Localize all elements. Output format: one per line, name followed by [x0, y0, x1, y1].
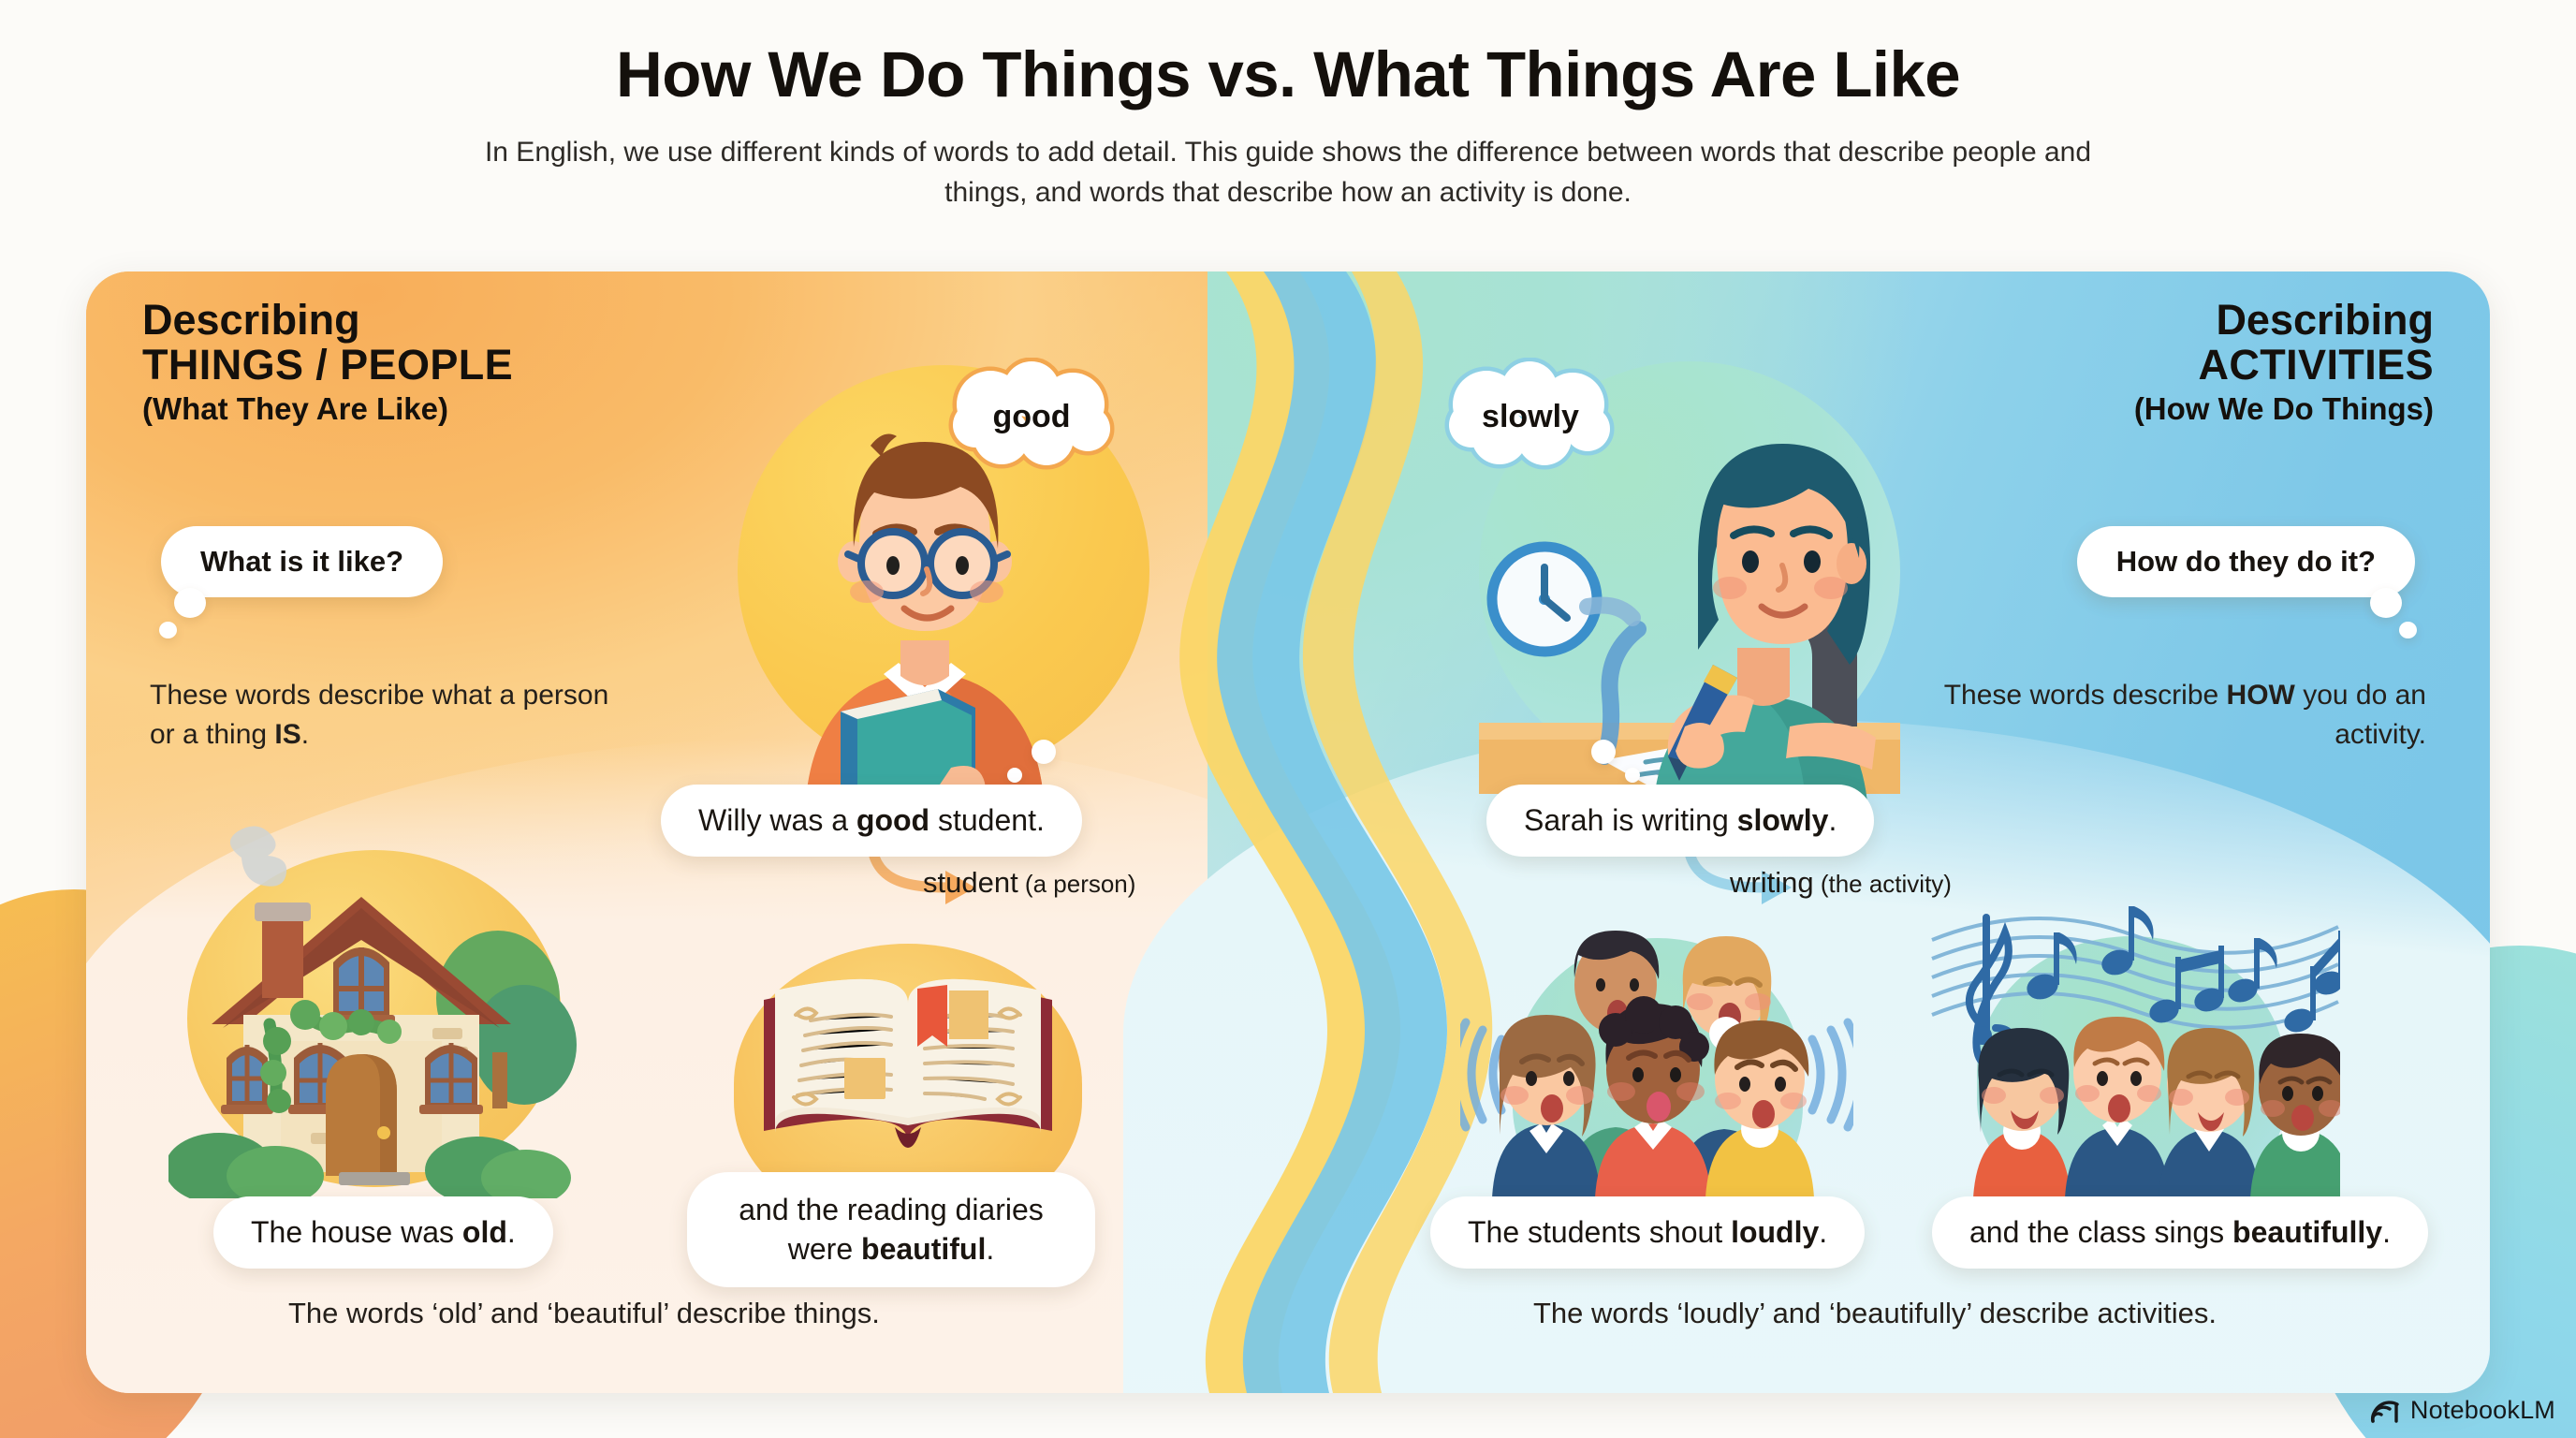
sentence-card-shout: The students shout loudly. — [1430, 1196, 1865, 1269]
right-conclusion: The words ‘loudly’ and ‘beautifully’ des… — [1533, 1297, 2217, 1330]
sentence-house-after: . — [507, 1215, 516, 1249]
thought-dot-good-2 — [1007, 768, 1022, 783]
sentence-book-after: . — [986, 1232, 994, 1266]
arrow-note-student-hint: (a person) — [1018, 870, 1136, 898]
sentence-sing-after: . — [2382, 1215, 2391, 1249]
notebooklm-label: NotebookLM — [2410, 1396, 2555, 1425]
thought-dot-slowly-2 — [1625, 768, 1640, 783]
left-heading-line2: THINGS / PEOPLE — [142, 343, 798, 389]
sentence-card-sarah: Sarah is writing slowly. — [1486, 785, 1874, 857]
sentence-sarah-after: . — [1828, 803, 1837, 837]
sentence-sarah-bold: slowly — [1737, 803, 1829, 837]
sentence-book-bold: beautiful — [861, 1232, 986, 1266]
arrow-note-writing: writing (the activity) — [1730, 866, 1952, 900]
sentence-card-sing: and the class sings beautifully. — [1932, 1196, 2428, 1269]
right-heading-line1: Describing — [1778, 298, 2434, 343]
sentence-willy-after: student. — [929, 803, 1045, 837]
question-pill-what-is-it-like: What is it like? — [161, 526, 443, 597]
right-heading-line2: ACTIVITIES — [1778, 343, 2434, 389]
right-description: These words describe HOW you do an activ… — [1939, 676, 2426, 755]
sentence-house-before: The house was — [251, 1215, 462, 1249]
right-heading-line3: (How We Do Things) — [1778, 389, 2434, 428]
illustration-shouting-students — [1460, 917, 1853, 1198]
left-description-part2: . — [301, 719, 309, 750]
thought-dot-slowly-1 — [1591, 740, 1616, 764]
right-column-heading: Describing ACTIVITIES (How We Do Things) — [1778, 298, 2434, 429]
sentence-sarah-before: Sarah is writing — [1524, 803, 1737, 837]
thought-bubble-slowly-label: slowly — [1432, 358, 1629, 479]
arrow-note-writing-hint: (the activity) — [1814, 870, 1952, 898]
sentence-sing-bold: beautifully — [2232, 1215, 2382, 1249]
illustration-open-book — [721, 917, 1095, 1198]
infographic-canvas: How We Do Things vs. What Things Are Lik… — [0, 0, 2576, 1438]
sentence-house-bold: old — [462, 1215, 507, 1249]
arrow-note-student-word: student — [923, 866, 1018, 899]
sentence-shout-bold: loudly — [1731, 1215, 1819, 1249]
left-conclusion: The words ‘old’ and ‘beautiful’ describe… — [288, 1297, 880, 1330]
notebooklm-arc-logo-icon — [2369, 1398, 2401, 1424]
sentence-card-willy: Willy was a good student. — [661, 785, 1082, 857]
sentence-shout-before: The students shout — [1468, 1215, 1731, 1249]
question-pill-how-do-they-do-it: How do they do it? — [2077, 526, 2415, 597]
question-pill-tail-dot-left-2 — [159, 622, 177, 638]
question-pill-tail-dot-right-2 — [2399, 622, 2417, 638]
thought-dot-good-1 — [1032, 740, 1056, 764]
thought-bubble-good-label: good — [938, 358, 1125, 479]
arrow-note-writing-word: writing — [1730, 866, 1814, 899]
left-description-bold: IS — [274, 719, 300, 750]
question-pill-tail-dot-left-1 — [174, 588, 206, 618]
header: How We Do Things vs. What Things Are Lik… — [0, 41, 2576, 213]
right-description-bold: HOW — [2227, 680, 2295, 711]
sentence-willy-before: Willy was a — [698, 803, 856, 837]
thought-bubble-slowly: slowly — [1432, 358, 1629, 479]
arrow-note-student: student (a person) — [923, 866, 1135, 900]
notebooklm-watermark: NotebookLM — [2369, 1396, 2555, 1425]
question-pill-tail-dot-right-1 — [2370, 588, 2402, 618]
left-heading-line1: Describing — [142, 298, 798, 343]
page-subtitle: In English, we use different kinds of wo… — [483, 133, 2093, 213]
sentence-card-house: The house was old. — [213, 1196, 553, 1269]
right-description-part1: These words describe — [1944, 680, 2227, 711]
sentence-sing-before: and the class sings — [1969, 1215, 2232, 1249]
illustration-singing-class — [1928, 880, 2340, 1198]
left-description: These words describe what a person or a … — [150, 676, 637, 755]
thought-bubble-good: good — [938, 358, 1125, 479]
left-description-part1: These words describe what a person or a … — [150, 680, 608, 750]
sentence-willy-bold: good — [856, 803, 929, 837]
sentence-card-book: and the reading diaries were beautiful. — [687, 1172, 1095, 1287]
left-column-heading: Describing THINGS / PEOPLE (What They Ar… — [142, 298, 798, 429]
illustration-old-house — [168, 824, 580, 1198]
right-description-part2: you do an activity. — [2295, 680, 2426, 750]
left-heading-line3: (What They Are Like) — [142, 389, 798, 428]
sentence-shout-after: . — [1819, 1215, 1827, 1249]
page-title: How We Do Things vs. What Things Are Lik… — [0, 41, 2576, 109]
